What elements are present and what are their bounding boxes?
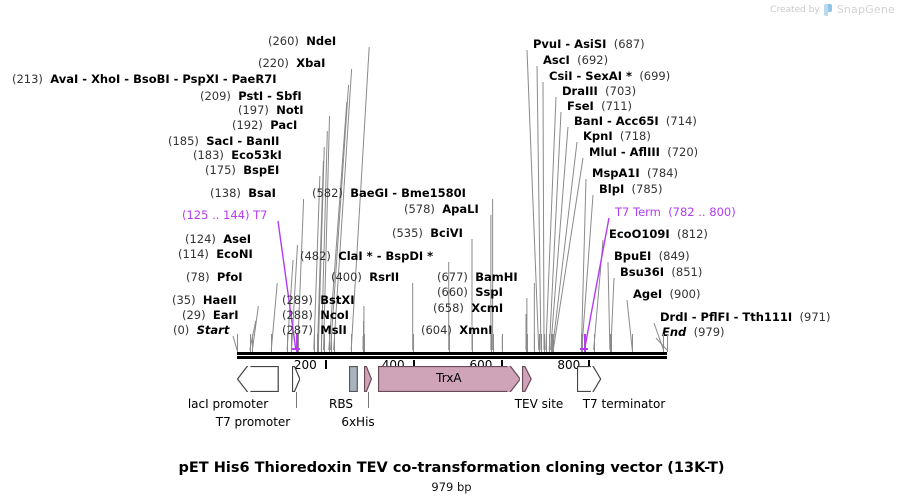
restriction-site-label[interactable]: (78) PfoI bbox=[186, 271, 243, 284]
site-position: (692) bbox=[577, 53, 608, 67]
site-tick bbox=[663, 334, 664, 352]
restriction-site-label[interactable]: BlpI (785) bbox=[599, 183, 662, 196]
feature-span-mark bbox=[292, 348, 300, 350]
enzyme-name: ApaLI bbox=[442, 202, 479, 216]
site-tick bbox=[252, 334, 253, 352]
feature-laci-promoter[interactable] bbox=[237, 366, 279, 392]
site-tick bbox=[250, 334, 251, 352]
enzyme-name: EcoO109I bbox=[609, 227, 670, 241]
enzyme-name: FseI bbox=[567, 99, 594, 113]
site-position: (578) bbox=[404, 202, 435, 216]
site-position: (289) bbox=[282, 293, 313, 307]
enzyme-name: BanII bbox=[246, 134, 279, 148]
restriction-site-label[interactable]: (482) ClaI * - BspDI * bbox=[300, 250, 433, 263]
site-tick bbox=[493, 334, 494, 352]
feature-label-rbs[interactable]: RBS bbox=[271, 397, 411, 411]
site-position: (979) bbox=[694, 325, 725, 339]
restriction-site-label[interactable]: MluI - AflIII (720) bbox=[589, 146, 698, 159]
feature-glyph bbox=[522, 366, 532, 392]
enzyme-name: Bsu36I bbox=[620, 265, 664, 279]
site-position: (197) bbox=[238, 103, 269, 117]
site-tick bbox=[541, 334, 542, 352]
feature-range: (782 .. 800) bbox=[668, 205, 736, 219]
site-position: (35) bbox=[172, 293, 196, 307]
enzyme-name: BamHI bbox=[475, 270, 517, 284]
restriction-site-label[interactable]: (138) BsaI bbox=[210, 187, 276, 200]
enzyme-name: AvaI bbox=[50, 72, 78, 86]
enzyme-name: BanI bbox=[574, 114, 603, 128]
start-label[interactable]: (0) Start bbox=[173, 324, 229, 337]
site-tick bbox=[539, 334, 540, 352]
axis-bar bbox=[237, 352, 667, 355]
site-position: (185) bbox=[168, 134, 199, 148]
enzyme-name: AgeI bbox=[633, 287, 662, 301]
enzyme-name: PaeR7I bbox=[232, 72, 277, 86]
enzyme-name: CsiI bbox=[549, 69, 573, 83]
site-tick bbox=[546, 334, 547, 352]
enzyme-name: DrdI bbox=[660, 310, 688, 324]
site-position: (658) bbox=[433, 301, 464, 315]
site-position: (703) bbox=[605, 84, 636, 98]
site-position: (660) bbox=[437, 285, 468, 299]
site-tick bbox=[271, 334, 272, 352]
feature-glyph bbox=[349, 366, 358, 392]
site-position: (400) bbox=[331, 270, 362, 284]
restriction-site-label[interactable]: (175) BspEI bbox=[205, 164, 279, 177]
restriction-site-label[interactable]: (677) BamHI bbox=[437, 271, 518, 284]
enzyme-name: AscI bbox=[543, 53, 570, 67]
plasmid-map-canvas: Created by SnapGene (260) NdeI(220) XbaI… bbox=[0, 0, 903, 501]
leader-line bbox=[543, 82, 544, 350]
feature-6xhis[interactable] bbox=[364, 366, 372, 392]
page-title: pET His6 Thioredoxin TEV co-transformati… bbox=[0, 460, 903, 476]
restriction-site-label[interactable]: (535) BciVI bbox=[392, 227, 463, 240]
feature-glyph bbox=[364, 366, 372, 392]
enzyme-name: BsoBI bbox=[133, 72, 170, 86]
feature-t7-terminator[interactable] bbox=[577, 366, 601, 392]
restriction-site-label[interactable]: PvuI - AsiSI (687) bbox=[533, 38, 645, 51]
site-position: (784) bbox=[647, 166, 678, 180]
site-position: (288) bbox=[282, 308, 313, 322]
site-tick bbox=[237, 334, 238, 352]
enzyme-name: DraIII bbox=[562, 84, 598, 98]
feature-glyph bbox=[577, 366, 601, 392]
site-tick bbox=[553, 334, 554, 352]
restriction-site-label[interactable]: Bsu36I (851) bbox=[620, 266, 702, 279]
restriction-site-label[interactable]: (220) XbaI bbox=[258, 57, 325, 70]
site-tick bbox=[324, 334, 325, 352]
site-position: (192) bbox=[232, 118, 263, 132]
site-position: (213) bbox=[12, 72, 43, 86]
restriction-site-label[interactable]: (288) NcoI bbox=[282, 309, 349, 322]
enzyme-name: MluI bbox=[589, 145, 617, 159]
restriction-site-label[interactable]: DrdI - PflFI - Tth111I (971) bbox=[660, 311, 830, 324]
site-tick bbox=[351, 334, 352, 352]
site-position: (687) bbox=[614, 37, 645, 51]
site-tick bbox=[632, 334, 633, 352]
site-position: (604) bbox=[421, 323, 452, 337]
site-position: (699) bbox=[639, 69, 670, 83]
enzyme-name: XmnI bbox=[459, 323, 492, 337]
site-tick bbox=[331, 334, 332, 352]
site-tick bbox=[287, 334, 288, 352]
site-position: (78) bbox=[186, 270, 210, 284]
enzyme-name: EarI bbox=[213, 308, 239, 322]
feature-name: T7 Term bbox=[615, 205, 661, 219]
feature-label-t7-terminator[interactable]: T7 terminator bbox=[554, 397, 694, 411]
enzyme-name: AseI bbox=[223, 232, 251, 246]
site-tick bbox=[527, 334, 528, 352]
site-position: (714) bbox=[666, 114, 697, 128]
site-position: (582) bbox=[312, 186, 343, 200]
restriction-site-label[interactable]: BanI - Acc65I (714) bbox=[574, 115, 697, 128]
enzyme-name: BstXI bbox=[320, 293, 354, 307]
leader-line bbox=[537, 66, 541, 350]
restriction-site-label[interactable]: (604) XmnI bbox=[421, 324, 493, 337]
enzyme-name: PvuI bbox=[533, 37, 561, 51]
site-tick bbox=[318, 334, 319, 352]
enzyme-name: BsaI bbox=[248, 186, 276, 200]
enzyme-name: MspA1I bbox=[592, 166, 640, 180]
restriction-site-label[interactable]: (192) PacI bbox=[232, 119, 297, 132]
restriction-site-label[interactable]: MspA1I (784) bbox=[592, 167, 678, 180]
feature-glyph bbox=[292, 366, 300, 392]
site-tick bbox=[334, 334, 335, 352]
restriction-site-label[interactable]: (185) SacI - BanII bbox=[168, 135, 279, 148]
enzyme-name: XbaI bbox=[296, 56, 325, 70]
feature-label-6xhis[interactable]: 6xHis bbox=[288, 415, 428, 429]
site-position: (718) bbox=[620, 129, 651, 143]
enzyme-name: AflIII bbox=[630, 145, 660, 159]
end-text: End bbox=[662, 325, 686, 339]
enzyme-name: Bme1580I bbox=[401, 186, 466, 200]
site-tick bbox=[321, 334, 322, 352]
enzyme-name: AsiSI bbox=[574, 37, 606, 51]
site-position: (0) bbox=[173, 323, 189, 337]
enzyme-name: PacI bbox=[270, 118, 297, 132]
restriction-site-label[interactable]: (29) EarI bbox=[182, 309, 239, 322]
enzyme-name: RsrII bbox=[369, 270, 399, 284]
enzyme-name: XhoI bbox=[91, 72, 120, 86]
restriction-site-label[interactable]: (260) NdeI bbox=[268, 35, 336, 48]
sequence-length: 979 bp bbox=[0, 480, 903, 494]
enzyme-name: BspEI bbox=[243, 163, 279, 177]
site-tick bbox=[667, 334, 668, 352]
enzyme-name: ClaI * bbox=[338, 249, 372, 263]
site-position: (851) bbox=[671, 265, 702, 279]
site-tick bbox=[472, 334, 473, 352]
site-position: (720) bbox=[667, 145, 698, 159]
t7-promoter-feature-label[interactable]: (125 .. 144) T7 bbox=[182, 209, 268, 222]
leader-line bbox=[656, 338, 667, 350]
restriction-site-label[interactable]: (658) XcmI bbox=[433, 302, 503, 315]
start-text: Start bbox=[197, 323, 230, 337]
site-position: (29) bbox=[182, 308, 206, 322]
site-position: (209) bbox=[200, 89, 231, 103]
enzyme-name: NotI bbox=[276, 103, 303, 117]
enzyme-name: HaeII bbox=[203, 293, 237, 307]
enzyme-name: SexAI * bbox=[585, 69, 632, 83]
ruler-tick bbox=[325, 360, 327, 369]
site-tick bbox=[594, 334, 595, 352]
restriction-site-label[interactable]: (289) BstXI bbox=[282, 294, 355, 307]
leader-line bbox=[584, 218, 609, 350]
enzyme-name: BpuEI bbox=[614, 249, 651, 263]
site-tick bbox=[611, 334, 612, 352]
site-position: (220) bbox=[258, 56, 289, 70]
restriction-site-label[interactable]: (660) SspI bbox=[437, 286, 503, 299]
feature-rbs[interactable] bbox=[349, 366, 358, 392]
site-position: (971) bbox=[800, 310, 831, 324]
enzyme-name: PstI bbox=[238, 89, 263, 103]
enzyme-name: PspXI bbox=[182, 72, 218, 86]
end-label[interactable]: End (979) bbox=[662, 326, 725, 339]
site-position: (260) bbox=[268, 34, 299, 48]
feature-label-trxa: TrxA bbox=[378, 371, 521, 385]
enzyme-name: BlpI bbox=[599, 182, 624, 196]
restriction-site-label[interactable]: (183) Eco53kI bbox=[193, 149, 282, 162]
restriction-site-label[interactable]: DraIII (703) bbox=[562, 85, 636, 98]
site-tick bbox=[364, 334, 365, 352]
restriction-site-label[interactable]: CsiI - SexAI * (699) bbox=[549, 70, 670, 83]
restriction-site-label[interactable]: (124) AseI bbox=[185, 233, 251, 246]
site-position: (677) bbox=[437, 270, 468, 284]
enzyme-name: Tth111I bbox=[742, 310, 792, 324]
site-position: (114) bbox=[178, 247, 209, 261]
site-tick bbox=[413, 334, 414, 352]
feature-stem bbox=[368, 392, 369, 408]
enzyme-name: SacI bbox=[206, 134, 233, 148]
feature-glyph bbox=[237, 366, 279, 392]
enzyme-name: BaeGI bbox=[350, 186, 388, 200]
site-tick bbox=[314, 334, 315, 352]
site-tick bbox=[534, 334, 535, 352]
restriction-site-label[interactable]: (114) EcoNI bbox=[178, 248, 253, 261]
restriction-site-label[interactable]: (213) AvaI - XhoI - BsoBI - PspXI - PaeR… bbox=[12, 73, 276, 86]
site-position: (812) bbox=[677, 227, 708, 241]
site-position: (482) bbox=[300, 249, 331, 263]
site-position: (785) bbox=[632, 182, 663, 196]
feature-t7-promoter[interactable] bbox=[292, 366, 300, 392]
site-position: (535) bbox=[392, 226, 423, 240]
restriction-site-label[interactable]: BpuEI (849) bbox=[614, 250, 690, 263]
enzyme-name: BciVI bbox=[430, 226, 463, 240]
enzyme-name: XcmI bbox=[471, 301, 503, 315]
site-tick bbox=[449, 334, 450, 352]
restriction-site-label[interactable]: FseI (711) bbox=[567, 100, 632, 113]
site-position: (124) bbox=[185, 232, 216, 246]
site-position: (138) bbox=[210, 186, 241, 200]
site-position: (183) bbox=[193, 148, 224, 162]
enzyme-name: BspDI * bbox=[385, 249, 433, 263]
feature-span-mark bbox=[580, 348, 588, 350]
enzyme-name: PflFI bbox=[701, 310, 730, 324]
restriction-site-label[interactable]: EcoO109I (812) bbox=[609, 228, 708, 241]
enzyme-name: Eco53kI bbox=[231, 148, 282, 162]
restriction-site-label[interactable]: AgeI (900) bbox=[633, 288, 700, 301]
enzyme-name: EcoNI bbox=[216, 247, 252, 261]
site-tick bbox=[502, 334, 503, 352]
t7-term-feature-label[interactable]: T7 Term (782 .. 800) bbox=[615, 206, 736, 219]
enzyme-name: Acc65I bbox=[616, 114, 659, 128]
site-position: (711) bbox=[601, 99, 632, 113]
restriction-site-label[interactable]: (400) RsrII bbox=[331, 271, 399, 284]
restriction-site-label[interactable]: (578) ApaLI bbox=[404, 203, 479, 216]
enzyme-name: KpnI bbox=[583, 129, 613, 143]
restriction-site-label[interactable]: (197) NotI bbox=[238, 104, 304, 117]
site-position: (849) bbox=[659, 249, 690, 263]
site-position: (900) bbox=[670, 287, 701, 301]
restriction-site-label[interactable]: (582) BaeGI - Bme1580I bbox=[312, 187, 466, 200]
restriction-site-label[interactable]: AscI (692) bbox=[543, 54, 608, 67]
enzyme-name: PfoI bbox=[217, 270, 243, 284]
enzyme-name: SspI bbox=[475, 285, 503, 299]
enzyme-name: NdeI bbox=[306, 34, 336, 48]
restriction-site-label[interactable]: (209) PstI - SbfI bbox=[200, 90, 302, 103]
enzyme-name: SbfI bbox=[276, 89, 302, 103]
restriction-site-label[interactable]: KpnI (718) bbox=[583, 130, 651, 143]
restriction-site-label[interactable]: (35) HaeII bbox=[172, 294, 237, 307]
feature-tev-site[interactable] bbox=[522, 366, 532, 392]
site-position: (175) bbox=[205, 163, 236, 177]
enzyme-name: NcoI bbox=[320, 308, 349, 322]
